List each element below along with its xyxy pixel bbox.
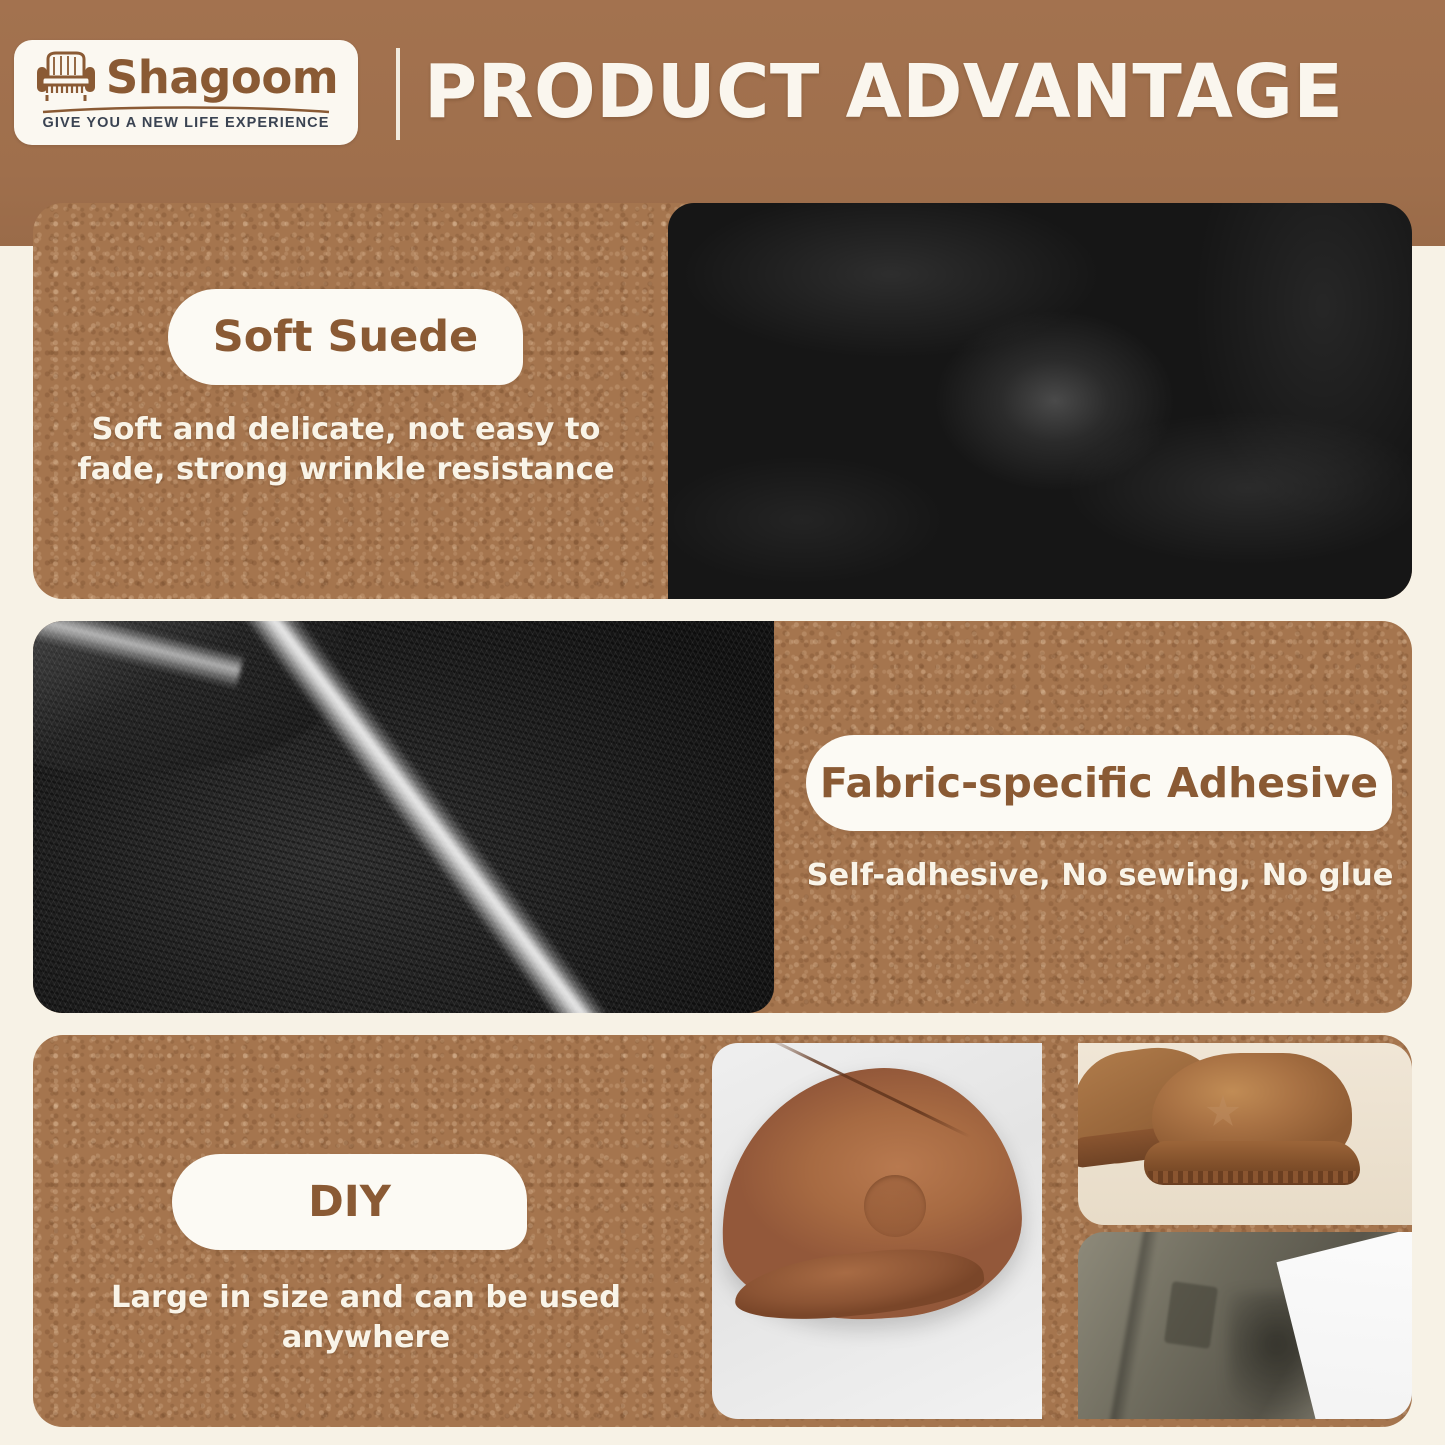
feature-card-soft-suede <box>33 203 1412 599</box>
header-divider <box>396 48 400 140</box>
photo-suede-flat-cap <box>712 1043 1042 1419</box>
feature-title-diy: DIY <box>308 1181 391 1224</box>
boot-tread <box>1148 1171 1356 1183</box>
armchair-icon <box>34 51 98 103</box>
brand-logo: Shagoom GIVE YOU A NEW LIFE EXPERIENCE <box>14 40 358 145</box>
page-title: PRODUCT ADVANTAGE <box>424 41 1414 143</box>
feature-badge-soft-suede: Soft Suede <box>168 289 523 385</box>
velvet-sheen-overlay <box>668 203 1412 599</box>
photo-hook-loop-fabric <box>33 621 774 1013</box>
brand-name-text: Shagoom <box>106 55 338 100</box>
brand-tagline: GIVE YOU A NEW LIFE EXPERIENCE <box>42 115 329 131</box>
photo-suede-jacket-sleeve <box>1078 1232 1412 1419</box>
jacket-fold-line <box>1105 1232 1160 1419</box>
photo-black-velvet-suede <box>668 203 1412 599</box>
feature-badge-diy: DIY <box>172 1154 527 1250</box>
feature-caption-adhesive: Self-adhesive, No sewing, No glue <box>800 856 1400 896</box>
feature-title-soft-suede: Soft Suede <box>213 316 478 359</box>
logo-underline <box>41 106 331 114</box>
feature-caption-soft-suede: Soft and delicate, not easy to fade, str… <box>46 410 646 491</box>
jacket-patch <box>1164 1281 1218 1349</box>
brand-name: Shagoom <box>106 55 338 100</box>
feature-caption-diy: Large in size and can be used anywhere <box>36 1278 696 1359</box>
flat-cap-emblem <box>864 1175 926 1237</box>
feature-badge-adhesive: Fabric-specific Adhesive <box>806 735 1392 831</box>
feature-title-adhesive: Fabric-specific Adhesive <box>820 763 1378 804</box>
photo-suede-slipper-boot <box>1078 1043 1412 1225</box>
infographic-page: Shagoom GIVE YOU A NEW LIFE EXPERIENCE P… <box>0 0 1445 1445</box>
logo-row: Shagoom <box>34 46 338 108</box>
